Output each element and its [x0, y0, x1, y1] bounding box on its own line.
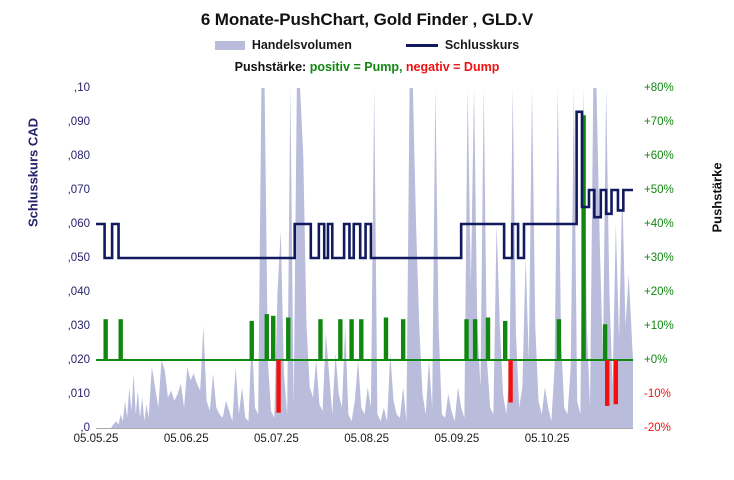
- push-bar-positive: [103, 319, 107, 360]
- left-axis-tick: ,030: [50, 320, 90, 332]
- push-bar-positive: [603, 324, 607, 360]
- x-axis-tick: 05.07.25: [254, 433, 299, 445]
- price-line-swatch-icon: [406, 44, 438, 47]
- push-bar-positive: [401, 319, 405, 360]
- left-axis-tick: ,10: [50, 82, 90, 94]
- push-bar-positive: [250, 321, 254, 360]
- chart-legend: Handelsvolumen Schlusskurs: [0, 38, 734, 52]
- right-axis-title: Pushstärke: [710, 118, 725, 278]
- push-bar-positive: [557, 319, 561, 360]
- left-axis-tick: ,010: [50, 388, 90, 400]
- chart-title: 6 Monate-PushChart, Gold Finder , GLD.V: [0, 10, 734, 30]
- right-axis-tick: +10%: [644, 320, 688, 332]
- x-axis-ticks: 05.05.2505.06.2505.07.2505.08.2505.09.25…: [0, 433, 734, 453]
- plot-svg: [96, 88, 633, 428]
- x-axis-tick: 05.05.25: [74, 433, 119, 445]
- right-axis-tick: +30%: [644, 252, 688, 264]
- left-axis-tick: ,070: [50, 184, 90, 196]
- x-axis-tick: 05.10.25: [525, 433, 570, 445]
- left-axis-tick: ,080: [50, 150, 90, 162]
- push-bar-negative: [605, 360, 609, 406]
- push-bar-positive: [486, 318, 490, 361]
- right-axis-tick: +80%: [644, 82, 688, 94]
- left-axis-tick: ,060: [50, 218, 90, 230]
- left-axis-tick: ,050: [50, 252, 90, 264]
- subtitle-positive: positiv = Pump,: [310, 60, 403, 74]
- subtitle-negative: negativ = Dump: [406, 60, 499, 74]
- legend-item-price: Schlusskurs: [406, 38, 519, 52]
- left-axis-tick: ,090: [50, 116, 90, 128]
- push-bar-positive: [271, 316, 275, 360]
- x-axis-line: [96, 428, 633, 429]
- right-axis-tick: -10%: [644, 388, 688, 400]
- push-bar-positive: [503, 321, 507, 360]
- right-axis-tick: +0%: [644, 354, 688, 366]
- legend-label-price: Schlusskurs: [445, 38, 519, 52]
- x-axis-tick: 05.09.25: [434, 433, 479, 445]
- subtitle-prefix: Pushstärke:: [235, 60, 307, 74]
- push-bar-positive: [338, 319, 342, 360]
- push-bar-positive: [359, 319, 363, 360]
- push-bar-negative: [276, 360, 280, 413]
- push-bar-positive: [119, 319, 123, 360]
- x-axis-tick: 05.06.25: [164, 433, 209, 445]
- right-axis-tick: +60%: [644, 150, 688, 162]
- right-axis-tick: +40%: [644, 218, 688, 230]
- push-bar-negative: [614, 360, 618, 404]
- legend-item-volume: Handelsvolumen: [215, 38, 352, 52]
- x-axis-tick: 05.08.25: [344, 433, 389, 445]
- left-axis-tick: ,040: [50, 286, 90, 298]
- right-axis-ticks: +80%+70%+60%+50%+40%+30%+20%+10%+0%-10%-…: [644, 0, 704, 480]
- push-bar-positive: [265, 314, 269, 360]
- right-axis-tick: +50%: [644, 184, 688, 196]
- push-bar-positive: [349, 319, 353, 360]
- push-bar-positive: [473, 319, 477, 360]
- push-bar-positive: [318, 319, 322, 360]
- plot-area: [96, 88, 633, 428]
- push-bar-positive: [464, 319, 468, 360]
- push-bar-positive: [384, 318, 388, 361]
- push-bar-positive: [286, 318, 290, 361]
- volume-swatch-icon: [215, 41, 245, 50]
- left-axis-title: Schlusskurs CAD: [26, 78, 41, 268]
- right-axis-tick: +20%: [644, 286, 688, 298]
- push-chart: 6 Monate-PushChart, Gold Finder , GLD.V …: [0, 0, 734, 480]
- price-line: [96, 112, 633, 258]
- legend-label-volume: Handelsvolumen: [252, 38, 352, 52]
- chart-subtitle: Pushstärke: positiv = Pump, negativ = Du…: [0, 60, 734, 74]
- push-bar-negative: [508, 360, 512, 403]
- right-axis-tick: +70%: [644, 116, 688, 128]
- left-axis-ticks: ,10,090,080,070,060,050,040,030,020,010,…: [45, 0, 90, 480]
- left-axis-tick: ,020: [50, 354, 90, 366]
